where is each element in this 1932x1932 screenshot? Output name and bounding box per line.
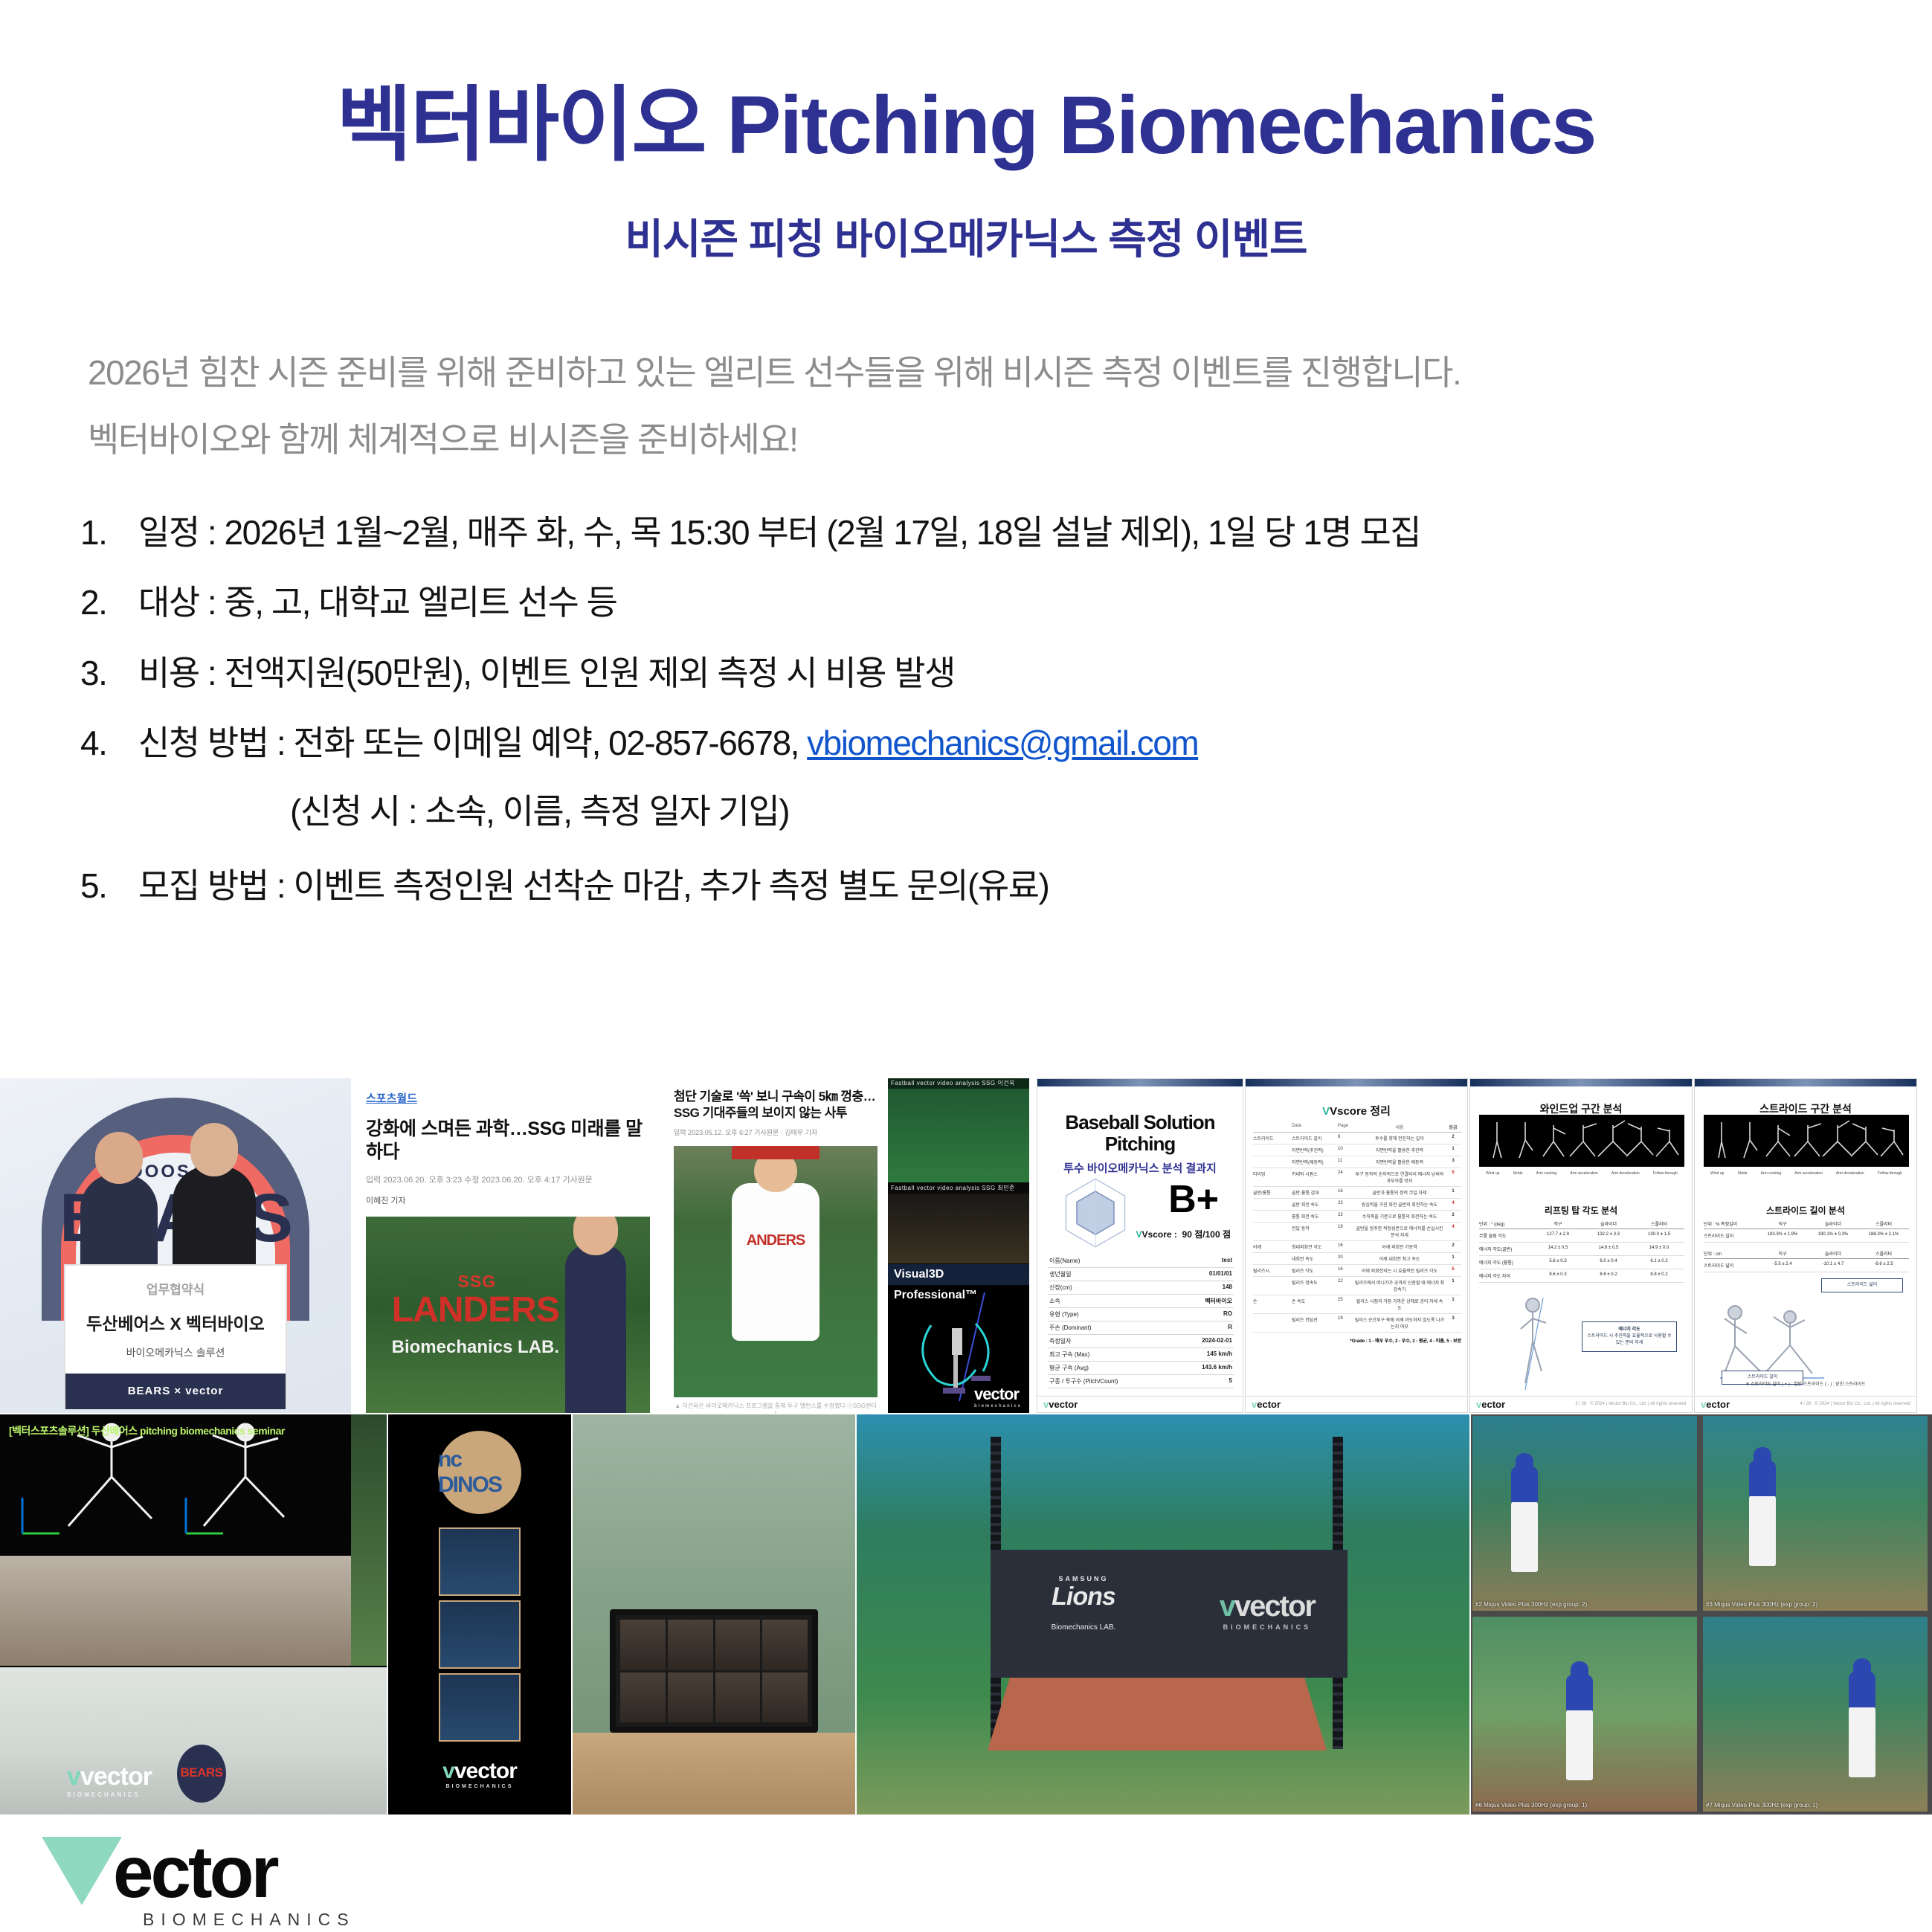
table-row: 구종 / 투구수 (Pitch/Count)5 [1048,1375,1234,1388]
camera-cell [762,1672,808,1723]
report-title: Baseball SolutionPitching [1037,1112,1243,1154]
application-note: (신청 시 : 소속, 이름, 측정 일자 기입) [80,785,1932,834]
camera-label: #7 Miqus Video Plus 300Hz (exp group: 1) [1706,1802,1817,1809]
report-page-cover: Baseball SolutionPitching 투수 바이오메카닉스 분석 … [1037,1078,1243,1413]
vector-logo: vvectorBIOMECHANICS [442,1759,517,1789]
placard-line-3: 바이오메카닉스 솔루션 [65,1345,286,1360]
biomechanics-lab-label: Biomechanics LAB. [370,1337,581,1358]
bears-logo: BEARS [177,1745,226,1803]
report-top-bar [1246,1079,1467,1086]
table-row: 지면반력(제동력)11지면반력을 활용한 제동력3 [1253,1156,1461,1168]
stride-width-label: 스트라이드 넓이 [1821,1278,1903,1292]
table-header-row: 단위 : % 측정길이직구슬라이더스플리터 [1704,1220,1909,1229]
table-row: 손손 속도25릴리스 시점과 가장 가까운 상체로 공이 자세 속도1 [1253,1295,1461,1314]
camera-view-2: #3 Miqus Video Plus 300Hz (exp group: 2) [1703,1416,1928,1611]
report-top-bar [1470,1079,1692,1086]
intro-line-2: 벡터바이오와 함께 체계적으로 비시즌을 준비하세요! [88,422,1932,457]
gallery-seminar-collage: [벡터스포츠솔루션] 두산베어스 pitching biomechanics s… [0,1414,387,1815]
news-meta: 입력 2023.06.20. 오후 3:23 수정 2023.06.20. 오후… [366,1173,650,1185]
page-header: 벡터바이오 Pitching Biomechanics 비시즌 피칭 바이오메카… [0,0,1932,266]
mou-placard: 업무협약식 두산베어스 X 벡터바이오 바이오메카닉스 솔루션 BEARS × … [64,1264,287,1405]
table-header-row: Data Page 내용 등급 [1253,1122,1461,1133]
report-top-bar [1695,1079,1916,1086]
table-row: 지면반력(추진력)10지면반력을 활용한 추진력1 [1253,1144,1461,1156]
event-details-list: 1. 일정 : 2026년 1월~2월, 매주 화, 수, 목 15:30 부터… [0,515,1932,904]
report-info-table: 이름(Name)test 생년월일01/01/01 신장(cm)148 소속벡터… [1048,1255,1234,1388]
vector-logo: vvector [1043,1399,1078,1410]
samsung-lions-logo: SAMSUNG Lions Biomechanics LAB. [1020,1575,1147,1632]
vector-logo: vectorbiomechanics [974,1385,1022,1408]
camera-cell [715,1672,761,1723]
camera-label: #6 Miqus Video Plus 300Hz (exp group: 1) [1475,1802,1587,1809]
camera-grid [620,1620,808,1722]
list-item-number: 5. [80,868,138,904]
grade-footnote: *Grade : 1 - 매우 우수, 2 - 우수, 3 - 평균, 4 - … [1253,1337,1461,1344]
visual3d-banner: Visual3D Professional™ [888,1264,1029,1285]
camera-cell [715,1620,761,1670]
camera-cell [668,1620,713,1670]
phase-labels: Wind upStrideArm cockingArm acceleration… [1479,1171,1684,1176]
table-row: 유형 (Type)RO [1048,1308,1234,1321]
ssg-label: SSG [372,1272,582,1292]
table-row: 어깨최대외회전 각도16어깨 외회전 가동역2 [1253,1241,1461,1253]
gallery-lions-facility-photo: SAMSUNG Lions Biomechanics LAB. vvectorB… [857,1414,1469,1815]
table-row: 흉통 회전 속도23수직축을 기준으로 흉통의 회전하는 속도2 [1253,1211,1461,1223]
list-item-text: 모집 방법 : 이벤트 측정인원 선착순 마감, 추가 측정 별도 문의(유료) [138,868,1932,904]
sponsor-banner: SAMSUNG Lions Biomechanics LAB. vvectorB… [991,1550,1347,1678]
pitching-session-photo [0,1556,351,1666]
camera-view-1: #2 Miqus Video Plus 300Hz (exp group: 2) [1472,1416,1697,1611]
vscore-table: Data Page 내용 등급 스트라이드스트라이드 길이6투수를 향해 전진하… [1253,1122,1461,1344]
footer-brand: ector BIOMECHANICS [42,1837,355,1930]
gallery-nc-dinos-panel: nc DINOS vvectorBIOMECHANICS [388,1414,571,1815]
motion-capture-strip [1479,1115,1684,1167]
motion-capture-strip [1704,1115,1909,1167]
news-meta: 입력 2023.05.12. 오후 6:27 기사원문 · 김태우 기자 [674,1127,878,1137]
video-clip-2: Fastball vector video analysis SSG 최민준 [888,1183,1029,1263]
landers-label: LANDERS [370,1289,581,1330]
application-text: 신청 방법 : 전화 또는 이메일 예약, 02-857-6678, [138,724,807,762]
camera-cell [668,1672,713,1723]
report-footer: vector 4 / 28 © 2024 | Vector Bio Co., L… [1695,1396,1916,1412]
table-row: 측정일자2024-02-01 [1048,1335,1234,1348]
table-row: 타이밍키네틱 시퀀스24투구 동작의 순차적으로 연결되어 에너지 낭비와 과부… [1253,1168,1461,1187]
analysis-monitor [610,1609,818,1733]
vector-logo: ector [42,1837,355,1905]
camera-cell [762,1620,808,1670]
camera-label: #3 Miqus Video Plus 300Hz (exp group: 2) [1706,1601,1817,1608]
news-headline: 강화에 스며든 과학…SSG 미래를 말하다 [366,1118,650,1165]
list-item-text: 대상 : 중, 고, 대학교 엘리트 선수 등 [138,585,1932,620]
stride-footnote: ※ 스트라이드 넓이 ( + ) : 열린 스트라이드 ( - ) : 닫힌 스… [1695,1380,1916,1387]
angle-table: 단위 : ° (deg)직구슬라이더스플리터 무릎 들림 각도127.7 ± 2… [1479,1220,1684,1283]
email-link[interactable]: vbiomechanics@gmail.com [807,724,1198,762]
placard-line-1: 업무협약식 [65,1279,286,1298]
list-item-text: 신청 방법 : 전화 또는 이메일 예약, 02-857-6678, vbiom… [138,725,1932,761]
list-item-text: 비용 : 전액지원(50만원), 이벤트 인원 제외 측정 시 비용 발생 [138,655,1932,691]
table-row: 골반/흉통골반-흉통 감대16골반과 흉통의 정적 코일 자세1 [1253,1187,1461,1199]
note-box: 에너지 각도 스트라이드 시 추진력을 효율적으로 사용할 수 있는 준비 자세 [1582,1321,1677,1352]
report-page-vscore: VVscore 정리 Data Page 내용 등급 스트라이드스트라이드 길이… [1245,1078,1468,1413]
video-bar-label: Fastball vector video analysis SSG 이건욱 [888,1078,1029,1089]
page-subtitle: 비시즌 피칭 바이오메카닉스 측정 이벤트 [0,206,1932,266]
report-title: VVscore 정리 [1246,1103,1467,1118]
jersey-text: ANDERS [747,1232,805,1249]
list-item: 5. 모집 방법 : 이벤트 측정인원 선착순 마감, 추가 측정 별도 문의(… [80,868,1932,904]
table-row: 주손 (Dominant)R [1048,1321,1234,1335]
list-item-number: 3. [80,655,138,691]
report-section-title: 스트라이드 길이 분석 [1695,1204,1916,1217]
news-caption: ▲ 이건욱은 바이오메카닉스 프로그램을 통해 투구 밸런스를 수정했다 ⓒSS… [674,1402,878,1413]
camera-cell [620,1672,666,1723]
report-footer: vector [1246,1396,1467,1412]
page-number: 4 / 28 © 2024 | Vector Bio Co., Ltd. | A… [1800,1402,1910,1406]
gallery-news-article-pitcher: 첨단 기술로 '쓱' 보니 구속이 5㎞ 껑충… SSG 기대주들의 보이지 않… [665,1078,886,1413]
news-headline: 첨단 기술로 '쓱' 보니 구속이 5㎞ 껑충… SSG 기대주들의 보이지 않… [674,1089,878,1121]
table-row: 전달 동작19골반을 정주한 적정성분으로 에너지를 손실시킨 분석 자세4 [1253,1223,1461,1241]
table-row: 평균 구속 (Avg)143.6 km/h [1048,1362,1234,1375]
stride-table: 단위 : % 측정길이직구슬라이더스플리터 스트라이드 길이183.3% ± 1… [1704,1220,1909,1272]
report-title: 스트라이드 구간 분석 [1695,1101,1916,1116]
placard-line-2: 두산베어스 X 벡터바이오 [65,1310,286,1335]
gallery-quad-camera-view: #2 Miqus Video Plus 300Hz (exp group: 2)… [1471,1414,1932,1815]
list-item-number: 4. [80,725,138,761]
table-header-row: 단위 : cm직구슬라이더스플리터 [1704,1250,1909,1259]
vscore-row: VVscore : 90 점/100 점 [1136,1228,1231,1240]
table-row: 릴리즈시릴리즈 각도16어깨 외회전되는 시 효율적인 릴리즈 각도5 [1253,1265,1461,1277]
photo-gallery: DOOSAN BEARS 업무협약식 두산베어스 X 벡터바이오 바이오메카닉스… [0,1078,1932,1815]
skeleton-sequence-icon [1704,1115,1909,1167]
news-byline: 이혜진 기자 [366,1194,650,1206]
gallery-lab-monitor-photo [573,1414,855,1815]
table-row: 스트라이드 길이183.3% ± 1.9%190.1% ± 0.3%188.3%… [1704,1229,1909,1243]
player-interview-frame [439,1600,521,1669]
table-row: 소속벡터바이오 [1048,1295,1234,1308]
skeleton-sequence-icon [1479,1115,1684,1167]
list-item: 2. 대상 : 중, 고, 대학교 엘리트 선수 등 [80,585,1932,620]
table-row: 내회전 속도20어깨 내회전 최고 속도1 [1253,1253,1461,1265]
table-row: 생년월일01/01/01 [1048,1268,1234,1281]
table-header-row: 단위 : ° (deg)직구슬라이더스플리터 [1479,1220,1684,1229]
list-item-number: 1. [80,515,138,550]
table-row: 스트라이드 넓이-5.5 ± 2.4-10.1 ± 4.7-9.6 ± 2.5 [1704,1259,1909,1272]
list-item-application: 4. 신청 방법 : 전화 또는 이메일 예약, 02-857-6678, vb… [80,725,1932,761]
placard-line-4: BEARS × vector [65,1374,286,1409]
gallery-photo-doosan-mou: DOOSAN BEARS 업무협약식 두산베어스 X 벡터바이오 바이오메카닉스… [0,1078,351,1413]
note-body: 스트라이드 시 추진력을 효율적으로 사용할 수 있는 준비 자세 [1587,1334,1671,1345]
video-bar-label: Fastball vector video analysis SSG 최민준 [888,1183,1029,1194]
page-title: 벡터바이오 Pitching Biomechanics [0,80,1932,170]
seminar-label: [벡터스포츠솔루션] 두산베어스 pitching biomechanics s… [9,1423,285,1438]
nc-dinos-badge-icon: nc DINOS [438,1431,521,1514]
video-clip-1: Fastball vector video analysis SSG 이건욱 [888,1078,1029,1182]
table-row: 릴리즈 컨답션19릴리스 순간투구 축에 어깨 과도하지 않도록 나가는지 여부… [1253,1314,1461,1333]
player-figure [1849,1704,1875,1777]
field-photo [351,1414,387,1666]
vector-logo: vector [1701,1399,1730,1410]
list-item-text: 일정 : 2026년 1월~2월, 매주 화, 수, 목 15:30 부터 (2… [138,515,1932,550]
intro-paragraphs: 2026년 힘찬 시즌 준비를 위해 준비하고 있는 엘리트 선수들을 위해 비… [0,355,1932,457]
table-row: 에너지 각도(골반)14.2 ± 0.514.6 ± 0.514.9 ± 0.0 [1479,1243,1684,1256]
vector-logo: vector [1252,1399,1281,1410]
player-figure [1511,1499,1538,1572]
gallery-news-article-ssg: 스포츠월드 강화에 스며든 과학…SSG 미래를 말하다 입력 2023.06.… [352,1078,663,1413]
news-photo: SSG LANDERS Biomechanics LAB. [366,1217,650,1414]
person-in-photo [565,1245,626,1414]
report-section-title: 리프팅 탑 각도 분석 [1470,1204,1692,1217]
news-source: 스포츠월드 [366,1090,650,1106]
report-title: 와인드업 구간 분석 [1470,1101,1692,1116]
vector-logo: vvectorBIOMECHANICS [1220,1590,1315,1631]
table-row: 이름(Name)test [1048,1255,1234,1268]
report-footer: vector 3 / 28 © 2024 | Vector Bio Co., L… [1470,1396,1692,1412]
page-number: 3 / 28 © 2024 | Vector Bio Co., Ltd. | A… [1575,1402,1686,1406]
vector-logo: vvectorBIOMECHANICS [67,1762,152,1798]
table-row: 스트라이드스트라이드 길이6투수를 향해 전진하는 길이2 [1253,1133,1461,1144]
camera-cell [620,1620,666,1670]
list-item: 1. 일정 : 2026년 1월~2월, 매주 화, 수, 목 15:30 부터… [80,515,1932,550]
camera-label: #2 Miqus Video Plus 300Hz (exp group: 2) [1475,1601,1587,1608]
phase-labels: Wind upStrideArm cockingArm acceleration… [1704,1171,1909,1176]
vector-v-icon [42,1837,122,1905]
report-footer: vvector [1037,1396,1243,1412]
camera-view-3: #6 Miqus Video Plus 300Hz (exp group: 1) [1472,1617,1697,1812]
table-row: 무릎 들림 각도127.7 ± 2.9132.2 ± 3.3130.0 ± 1.… [1479,1229,1684,1243]
visual3d-viewport: Visual3D Professional™ vectorbiomechanic… [888,1264,1029,1413]
camera-view-4: #7 Miqus Video Plus 300Hz (exp group: 1) [1703,1617,1928,1812]
radar-chart-icon [1057,1174,1134,1252]
list-item: 3. 비용 : 전액지원(50만원), 이벤트 인원 제외 측정 시 비용 발생 [80,655,1932,691]
note-title: 에너지 각도 [1618,1327,1640,1332]
player-figure [1749,1493,1776,1566]
table-row: 신장(cm)148 [1048,1281,1234,1295]
table-row: 릴리즈 정속도22릴리즈에서 떠나가가 공까지 신장할 때 에너지 최강속기1 [1253,1277,1461,1295]
player-interview-frame [439,1673,521,1742]
table-row: 에너지 각도 (흉통)5.6 ± 0.36.0 ± 0.46.1 ± 0.2 [1479,1256,1684,1269]
player-interview-frame [439,1527,521,1596]
pitcher-figure [732,1183,820,1341]
vector-wordmark: ector [113,1838,277,1905]
list-item-number: 2. [80,585,138,620]
gallery-video-analysis-panel: Fastball vector video analysis SSG 이건욱 F… [888,1078,1029,1413]
vector-tagline: BIOMECHANICS [143,1910,355,1930]
skeleton-posture-icon [1500,1296,1567,1393]
table-row: 최고 구속 (Max)145 km/h [1048,1348,1234,1362]
report-page-windup: 와인드업 구간 분석 Wind upStrideArm cockingArm a… [1469,1078,1693,1413]
player-figure [1566,1707,1593,1780]
table-row: 골반 회전 속도23원심력을 가진 회전 골반의 회전하는 속도4 [1253,1199,1461,1211]
vector-logo: vector [1476,1399,1505,1410]
pitcher-photo: ANDERS [674,1146,878,1397]
report-top-bar [1037,1079,1243,1086]
grade-value: B+ [1168,1177,1219,1222]
report-page-stride: 스트라이드 구간 분석 Wind upStrideArm cockingArm … [1694,1078,1917,1413]
intro-line-1: 2026년 힘찬 시즌 준비를 위해 준비하고 있는 엘리트 선수들을 위해 비… [88,355,1932,390]
table-row: 에너지 각도 차이8.6 ± 0.38.6 ± 0.28.8 ± 0.2 [1479,1269,1684,1283]
desk-surface [573,1733,855,1815]
